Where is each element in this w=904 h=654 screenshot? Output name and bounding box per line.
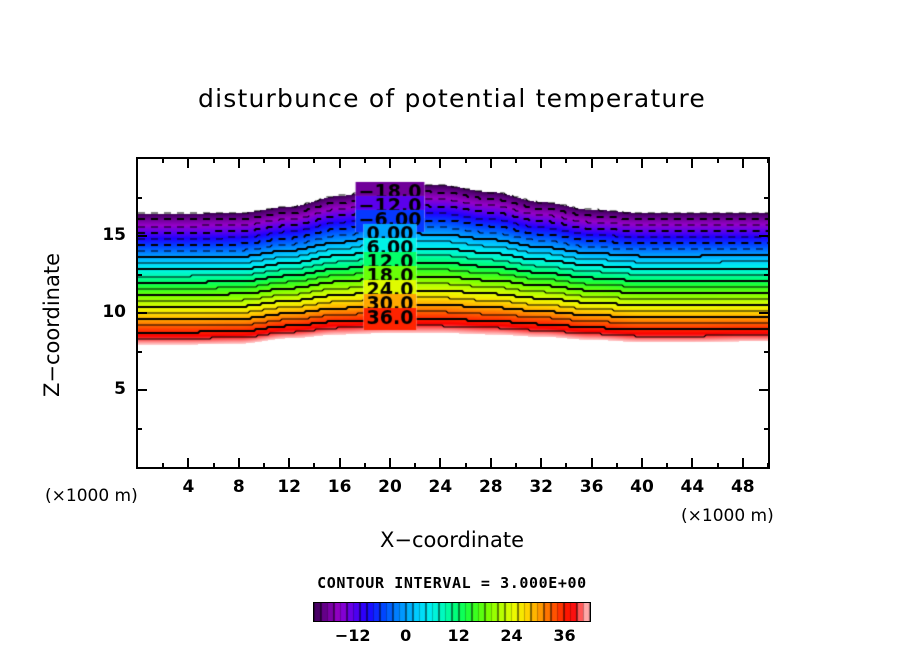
colorbar-tick-label: −12 <box>330 626 376 645</box>
x-minor-tick <box>515 463 517 469</box>
contour-field <box>138 159 768 467</box>
x-major-tick-top <box>439 157 441 168</box>
y-minor-tick <box>136 351 142 353</box>
x-tick-label: 32 <box>521 477 561 497</box>
x-major-tick <box>238 458 240 469</box>
x-tick-label: 12 <box>269 477 309 497</box>
y-minor-tick <box>136 274 142 276</box>
x-minor-tick-top <box>364 157 366 163</box>
x-minor-tick <box>666 463 668 469</box>
x-major-tick-top <box>288 157 290 168</box>
x-tick-label: 40 <box>622 477 662 497</box>
y-minor-tick-right <box>764 197 770 199</box>
x-minor-tick <box>565 463 567 469</box>
colorbar-tick-label: 36 <box>542 626 588 645</box>
x-major-tick-top <box>389 157 391 168</box>
x-major-tick <box>641 458 643 469</box>
y-major-tick <box>136 312 147 314</box>
x-minor-tick <box>717 463 719 469</box>
x-major-tick <box>288 458 290 469</box>
y-axis-title: Z−coordinate <box>40 225 64 425</box>
page-title: disturbunce of potential temperature <box>0 84 904 113</box>
x-major-tick-top <box>641 157 643 168</box>
x-tick-label: 8 <box>219 477 259 497</box>
x-major-tick <box>187 458 189 469</box>
x-minor-tick <box>162 463 164 469</box>
x-minor-tick <box>465 463 467 469</box>
x-major-tick-top <box>540 157 542 168</box>
colorbar-tick-label: 12 <box>436 626 482 645</box>
x-tick-label: 44 <box>672 477 712 497</box>
x-major-tick-top <box>187 157 189 168</box>
colorbar <box>313 602 591 622</box>
y-minor-tick-right <box>764 351 770 353</box>
x-major-tick <box>591 458 593 469</box>
colorbar-tick-label: 24 <box>489 626 535 645</box>
x-axis-title: X−coordinate <box>0 528 904 552</box>
y-major-tick <box>136 235 147 237</box>
x-major-tick-top <box>691 157 693 168</box>
y-major-tick <box>136 389 147 391</box>
y-major-tick-right <box>759 389 770 391</box>
x-minor-tick-top <box>767 157 769 163</box>
x-major-tick <box>742 458 744 469</box>
x-minor-tick-top <box>515 157 517 163</box>
x-tick-label: 48 <box>723 477 763 497</box>
x-tick-label: 36 <box>572 477 612 497</box>
x-minor-tick-top <box>717 157 719 163</box>
y-tick-label: 5 <box>86 379 126 399</box>
x-axis-unit-label: (×1000 m) <box>681 506 774 526</box>
x-minor-tick <box>263 463 265 469</box>
y-major-tick-right <box>759 235 770 237</box>
y-tick-label: 15 <box>86 225 126 245</box>
x-minor-tick-top <box>263 157 265 163</box>
figure-root: disturbunce of potential temperature 481… <box>0 0 904 654</box>
x-minor-tick <box>364 463 366 469</box>
y-minor-tick-right <box>764 274 770 276</box>
x-minor-tick <box>767 463 769 469</box>
x-tick-label: 24 <box>420 477 460 497</box>
colorbar-caption: CONTOUR INTERVAL = 3.000E+00 <box>0 574 904 592</box>
x-minor-tick <box>313 463 315 469</box>
y-tick-label: 10 <box>86 302 126 322</box>
x-minor-tick <box>213 463 215 469</box>
y-axis-unit-label: (×1000 m) <box>45 486 138 506</box>
x-major-tick-top <box>742 157 744 168</box>
plot-area <box>136 157 770 469</box>
x-major-tick <box>389 458 391 469</box>
x-minor-tick-top <box>465 157 467 163</box>
x-minor-tick-top <box>313 157 315 163</box>
colorbar-gradient <box>314 603 590 621</box>
x-minor-tick-top <box>666 157 668 163</box>
y-tick-labels: 51015 <box>86 0 126 654</box>
x-minor-tick-top <box>414 157 416 163</box>
x-major-tick <box>339 458 341 469</box>
x-tick-label: 4 <box>168 477 208 497</box>
y-major-tick-right <box>759 312 770 314</box>
x-major-tick-top <box>591 157 593 168</box>
y-minor-tick-right <box>764 428 770 430</box>
x-minor-tick <box>616 463 618 469</box>
x-major-tick-top <box>490 157 492 168</box>
x-major-tick-top <box>339 157 341 168</box>
x-major-tick <box>540 458 542 469</box>
x-minor-tick-top <box>162 157 164 163</box>
x-minor-tick-top <box>213 157 215 163</box>
y-minor-tick <box>136 428 142 430</box>
x-major-tick <box>691 458 693 469</box>
x-minor-tick <box>414 463 416 469</box>
x-minor-tick-top <box>565 157 567 163</box>
x-major-tick-top <box>238 157 240 168</box>
x-tick-label: 28 <box>471 477 511 497</box>
x-major-tick <box>439 458 441 469</box>
x-major-tick <box>490 458 492 469</box>
x-tick-label: 16 <box>320 477 360 497</box>
y-minor-tick <box>136 197 142 199</box>
x-minor-tick-top <box>616 157 618 163</box>
x-tick-label: 20 <box>370 477 410 497</box>
colorbar-tick-label: 0 <box>383 626 429 645</box>
